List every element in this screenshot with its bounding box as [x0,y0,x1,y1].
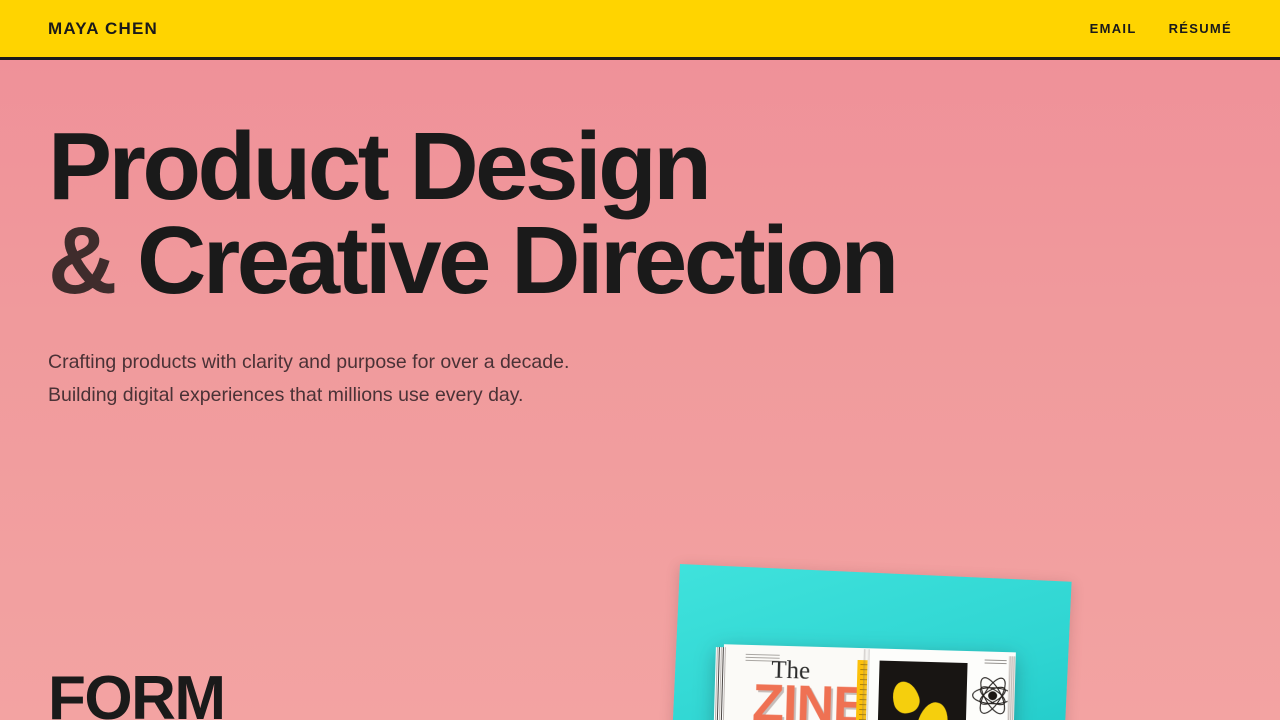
magazine-title-zine: ZINE [752,677,865,720]
magazine-black-panel [877,661,968,720]
headline-line-2-text: Creative Direction [137,207,896,314]
hero-section: Product Design & Creative Direction Craf… [0,60,1280,411]
headline-line-2: & Creative Direction [48,214,1280,308]
portfolio-landing-page: MAYA CHEN EMAIL RÉSUMÉ Product Design & … [0,0,1280,720]
hero-subtitle: Crafting products with clarity and purpo… [0,308,1280,411]
magazine-left-page: The ZINE [721,644,868,720]
magazine-photo: The ZINE [660,548,1100,720]
pear-shape-icon [889,678,923,716]
magazine-right-page [865,648,1016,720]
subtitle-line-2: Building digital experiences that millio… [48,379,1280,412]
section-heading-form: FORM [48,668,225,720]
open-magazine-spread: The ZINE [713,644,1016,720]
page-title: Product Design & Creative Direction [0,60,1280,308]
magazine-folio-lines [985,660,1007,666]
brand-wordmark[interactable]: MAYA CHEN [48,19,158,39]
magazine-page-stack-edge [713,647,726,720]
nav-link-resume[interactable]: RÉSUMÉ [1169,21,1232,36]
ampersand-glyph: & [48,207,114,314]
subtitle-line-1: Crafting products with clarity and purpo… [48,346,1280,379]
site-header: MAYA CHEN EMAIL RÉSUMÉ [0,0,1280,60]
headline-line-1: Product Design [48,120,1280,214]
primary-nav: EMAIL RÉSUMÉ [1090,21,1232,36]
nav-link-email[interactable]: EMAIL [1090,21,1137,36]
